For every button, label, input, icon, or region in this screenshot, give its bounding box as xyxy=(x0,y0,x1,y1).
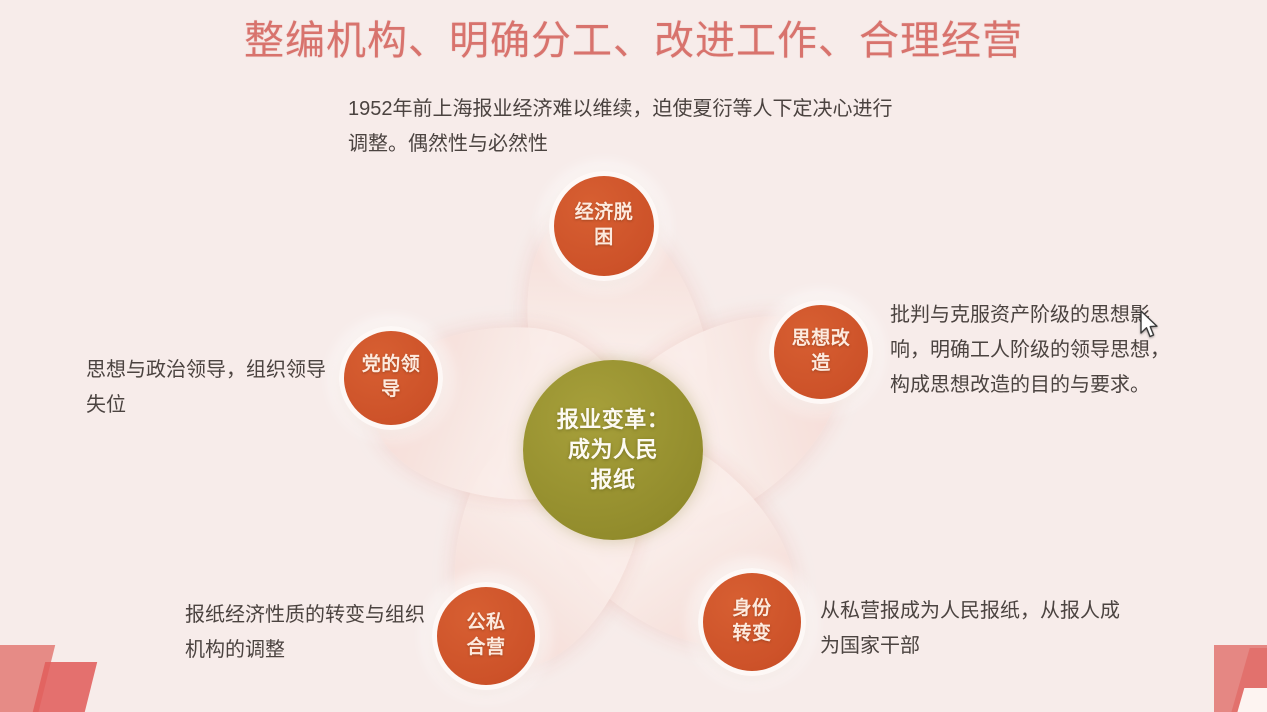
annotation-public-private-partnership: 报纸经济性质的转变与组织机构的调整 xyxy=(185,598,435,668)
diagram-node-ideological-reform[interactable]: 思想改 造 xyxy=(769,300,873,404)
presentation-slide: 整编机构、明确分工、改进工作、合理经营 1952年前上海报业经济难以维续，迫使夏… xyxy=(0,0,1267,712)
corner-decoration-bottom-right-2 xyxy=(1226,648,1267,712)
corner-decoration-bottom-right-3 xyxy=(1236,688,1267,712)
diagram-node-label: 身份 转变 xyxy=(732,597,771,646)
slide-subtitle: 1952年前上海报业经济难以维续，迫使夏衍等人下定决心进行调整。偶然性与必然性 xyxy=(348,92,908,162)
annotation-identity-transformation: 从私营报成为人民报纸，从报人成为国家干部 xyxy=(820,594,1120,664)
diagram-node-party-leadership[interactable]: 党的领 导 xyxy=(339,326,443,430)
diagram-node-identity-transformation[interactable]: 身份 转变 xyxy=(698,568,806,676)
diagram-node-label: 思想改 造 xyxy=(792,327,851,376)
corner-decoration-bottom-right-1 xyxy=(1214,645,1267,712)
diagram-node-label: 公私 合营 xyxy=(466,611,505,660)
diagram-node-public-private-partnership[interactable]: 公私 合营 xyxy=(432,582,540,690)
corner-decoration-bottom-left-1 xyxy=(0,645,55,712)
diagram-center-label: 报业变革： 成为人民 报纸 xyxy=(557,405,670,494)
diagram-center-node[interactable]: 报业变革： 成为人民 报纸 xyxy=(523,360,703,540)
diagram-node-economic-relief[interactable]: 经济脱 困 xyxy=(549,171,659,281)
corner-decoration-bottom-left-2 xyxy=(23,662,97,712)
annotation-ideological-reform: 批判与克服资产阶级的思想影响，明确工人阶级的领导思想，构成思想改造的目的与要求。 xyxy=(890,298,1170,403)
diagram-node-label: 党的领 导 xyxy=(362,353,421,402)
annotation-party-leadership: 思想与政治领导，组织领导失位 xyxy=(86,353,336,423)
slide-title: 整编机构、明确分工、改进工作、合理经营 xyxy=(0,16,1267,66)
diagram-node-label: 经济脱 困 xyxy=(575,201,634,250)
